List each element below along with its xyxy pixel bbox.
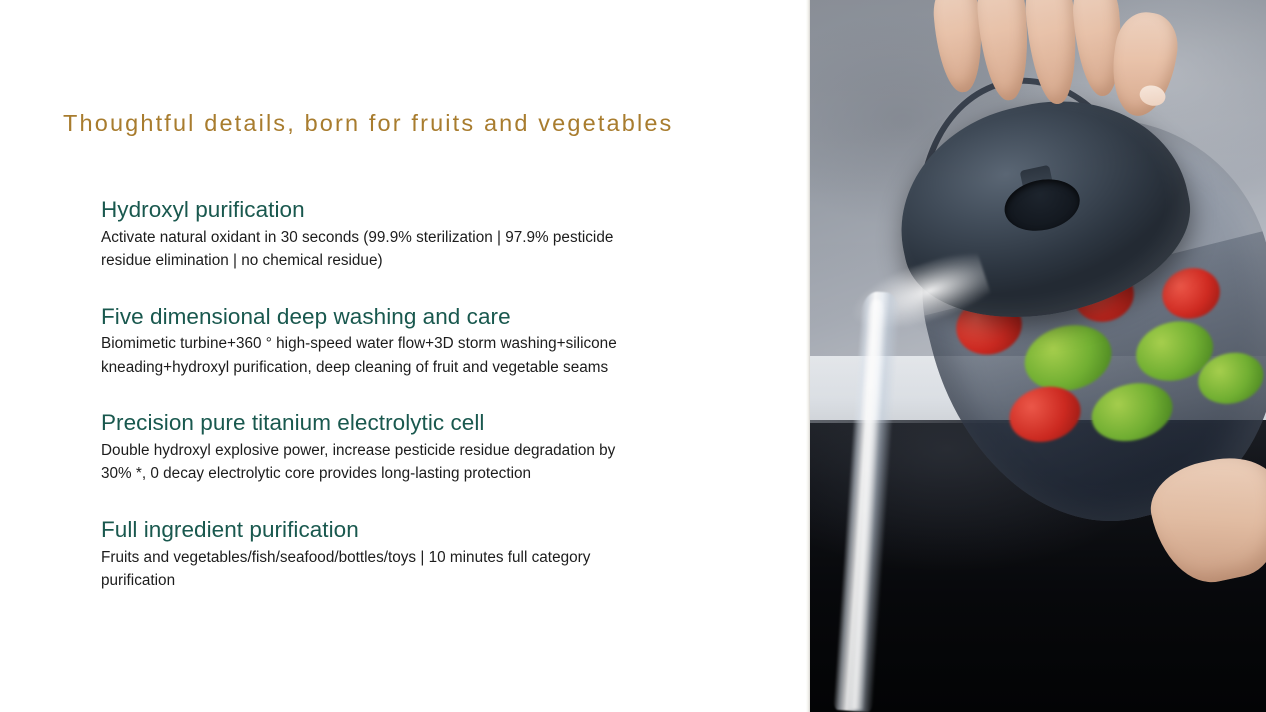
feature-body: Double hydroxyl explosive power, increas… <box>101 439 633 486</box>
feature-heading: Full ingredient purification <box>101 516 721 545</box>
finger <box>974 0 1033 102</box>
feature-section: Precision pure titanium electrolytic cel… <box>101 409 721 486</box>
product-photo <box>810 0 1266 712</box>
feature-heading: Precision pure titanium electrolytic cel… <box>101 409 721 438</box>
slide-title: Thoughtful details, born for fruits and … <box>63 110 673 137</box>
product-photo-panel <box>806 0 1266 712</box>
feature-body: Biomimetic turbine+360 ° high-speed wate… <box>101 332 633 379</box>
feature-section: Hydroxyl purification Activate natural o… <box>101 196 721 273</box>
feature-heading: Five dimensional deep washing and care <box>101 303 721 332</box>
feature-body: Activate natural oxidant in 30 seconds (… <box>101 226 621 273</box>
hand-holding-handle <box>923 0 1187 155</box>
feature-heading: Hydroxyl purification <box>101 196 721 225</box>
text-panel: Thoughtful details, born for fruits and … <box>0 0 806 712</box>
slide-root: Thoughtful details, born for fruits and … <box>0 0 1266 712</box>
feature-section-list: Hydroxyl purification Activate natural o… <box>101 196 721 592</box>
lid-center-hole <box>1000 173 1085 238</box>
feature-body: Fruits and vegetables/fish/seafood/bottl… <box>101 546 621 593</box>
feature-section: Five dimensional deep washing and care B… <box>101 303 721 380</box>
feature-section: Full ingredient purification Fruits and … <box>101 516 721 593</box>
photo-left-seam <box>806 0 810 712</box>
